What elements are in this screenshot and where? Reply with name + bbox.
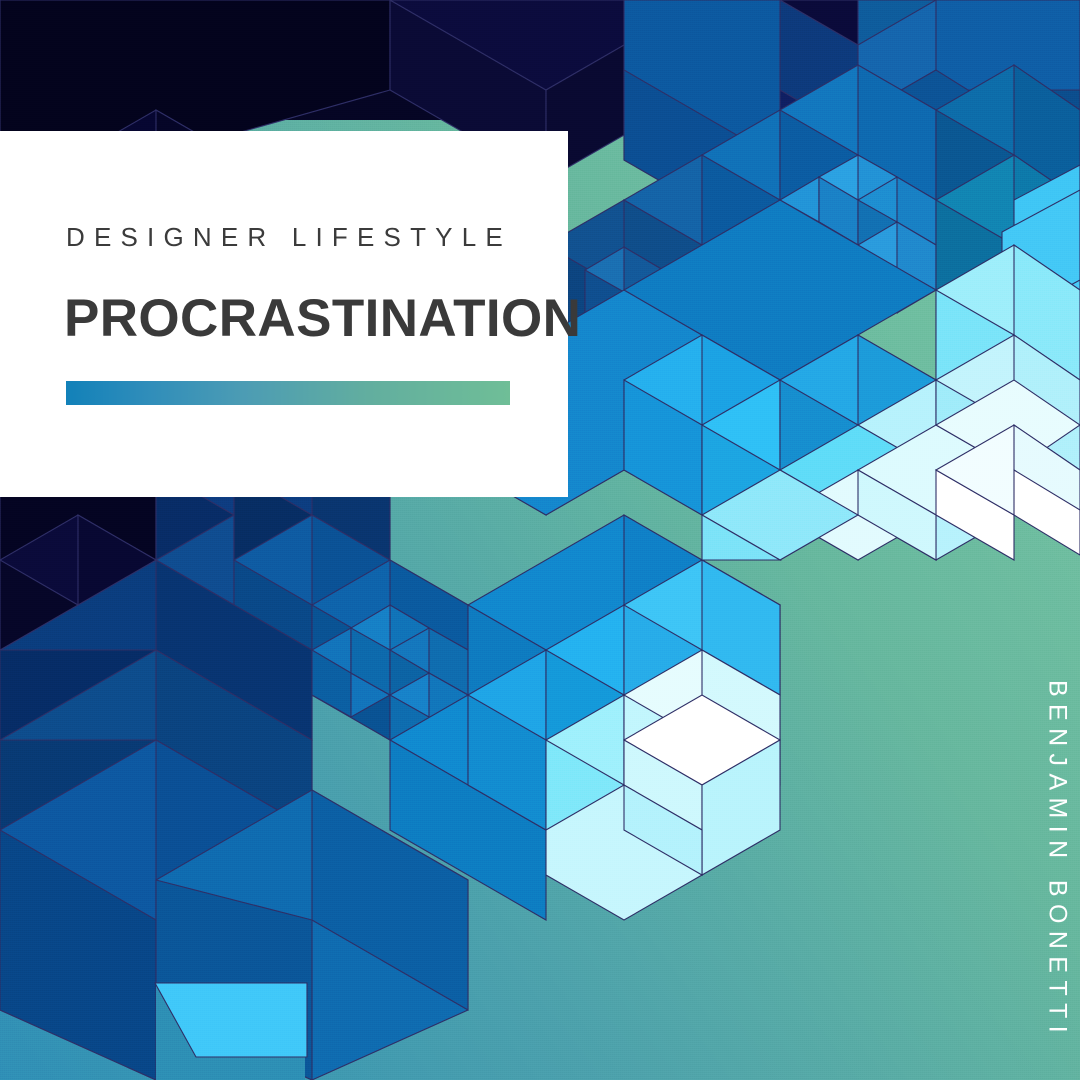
poster-canvas: DESIGNER LIFESTYLE PROCRASTINATION BENJA… xyxy=(0,0,1080,1080)
eyebrow-text: DESIGNER LIFESTYLE xyxy=(66,222,512,253)
title-card: DESIGNER LIFESTYLE PROCRASTINATION xyxy=(0,131,568,497)
page-title: PROCRASTINATION xyxy=(64,288,581,349)
author-name-container: BENJAMIN BONETTI xyxy=(1034,640,1080,1080)
author-name: BENJAMIN BONETTI xyxy=(1043,680,1072,1040)
gradient-rule xyxy=(66,381,510,405)
